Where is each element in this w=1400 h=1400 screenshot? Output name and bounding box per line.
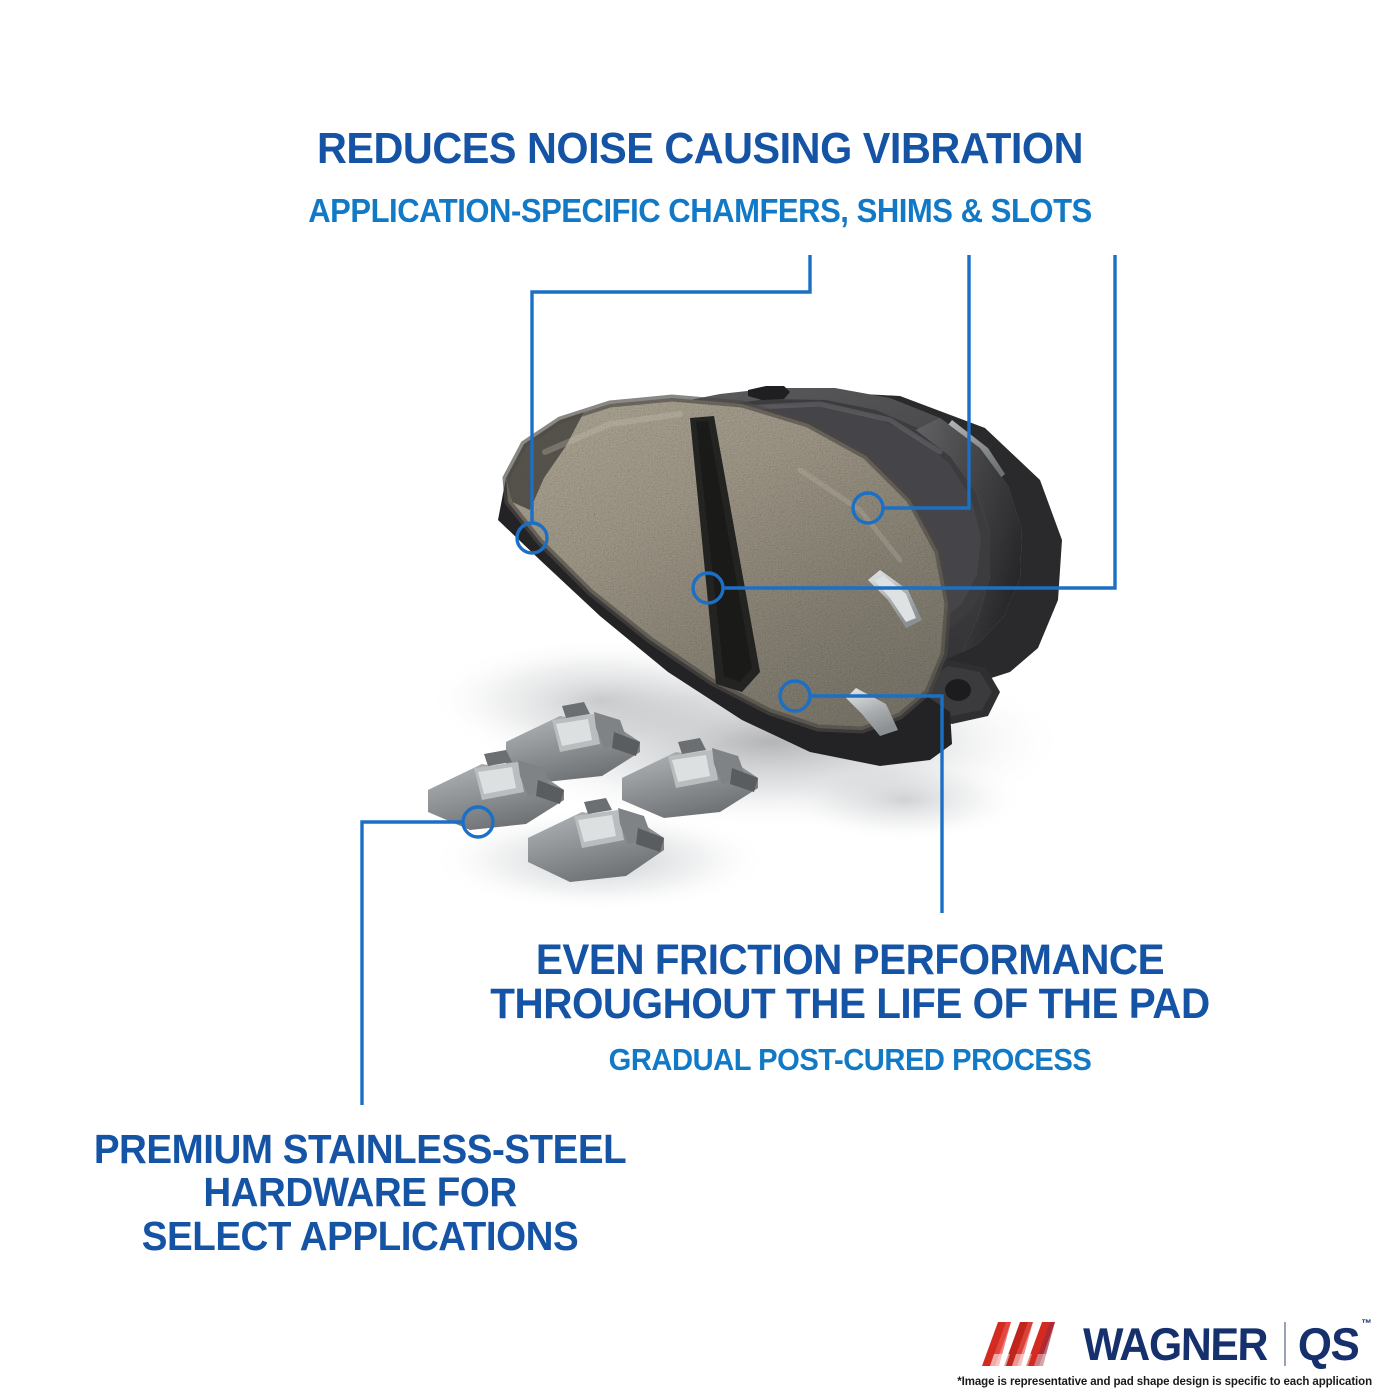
qs-text: QS (1296, 1318, 1360, 1370)
top-headline: REDUCES NOISE CAUSING VIBRATION (42, 126, 1358, 172)
wagner-wordmark: WAGNER (1082, 1321, 1267, 1367)
left-headline: PREMIUM STAINLESS-STEEL HARDWARE FOR SEL… (31, 1128, 689, 1258)
logo-divider (1284, 1322, 1286, 1366)
top-subheadline: APPLICATION-SPECIFIC CHAMFERS, SHIMS & S… (42, 194, 1358, 228)
brand-logo-block: WAGNER QS ™ *Image is representative and… (932, 1316, 1372, 1388)
mid-headline: EVEN FRICTION PERFORMANCE THROUGHOUT THE… (352, 938, 1348, 1027)
qs-wordmark: QS ™ (1296, 1321, 1371, 1367)
wagner-chevrons-icon (980, 1320, 1066, 1368)
infographic-canvas: REDUCES NOISE CAUSING VIBRATION APPLICAT… (0, 0, 1400, 1400)
disclaimer-text: *Image is representative and pad shape d… (932, 1376, 1372, 1388)
trademark-symbol: ™ (1360, 1319, 1371, 1330)
logo-row: WAGNER QS ™ (932, 1316, 1372, 1372)
mid-subheadline: GRADUAL POST-CURED PROCESS (352, 1044, 1348, 1076)
